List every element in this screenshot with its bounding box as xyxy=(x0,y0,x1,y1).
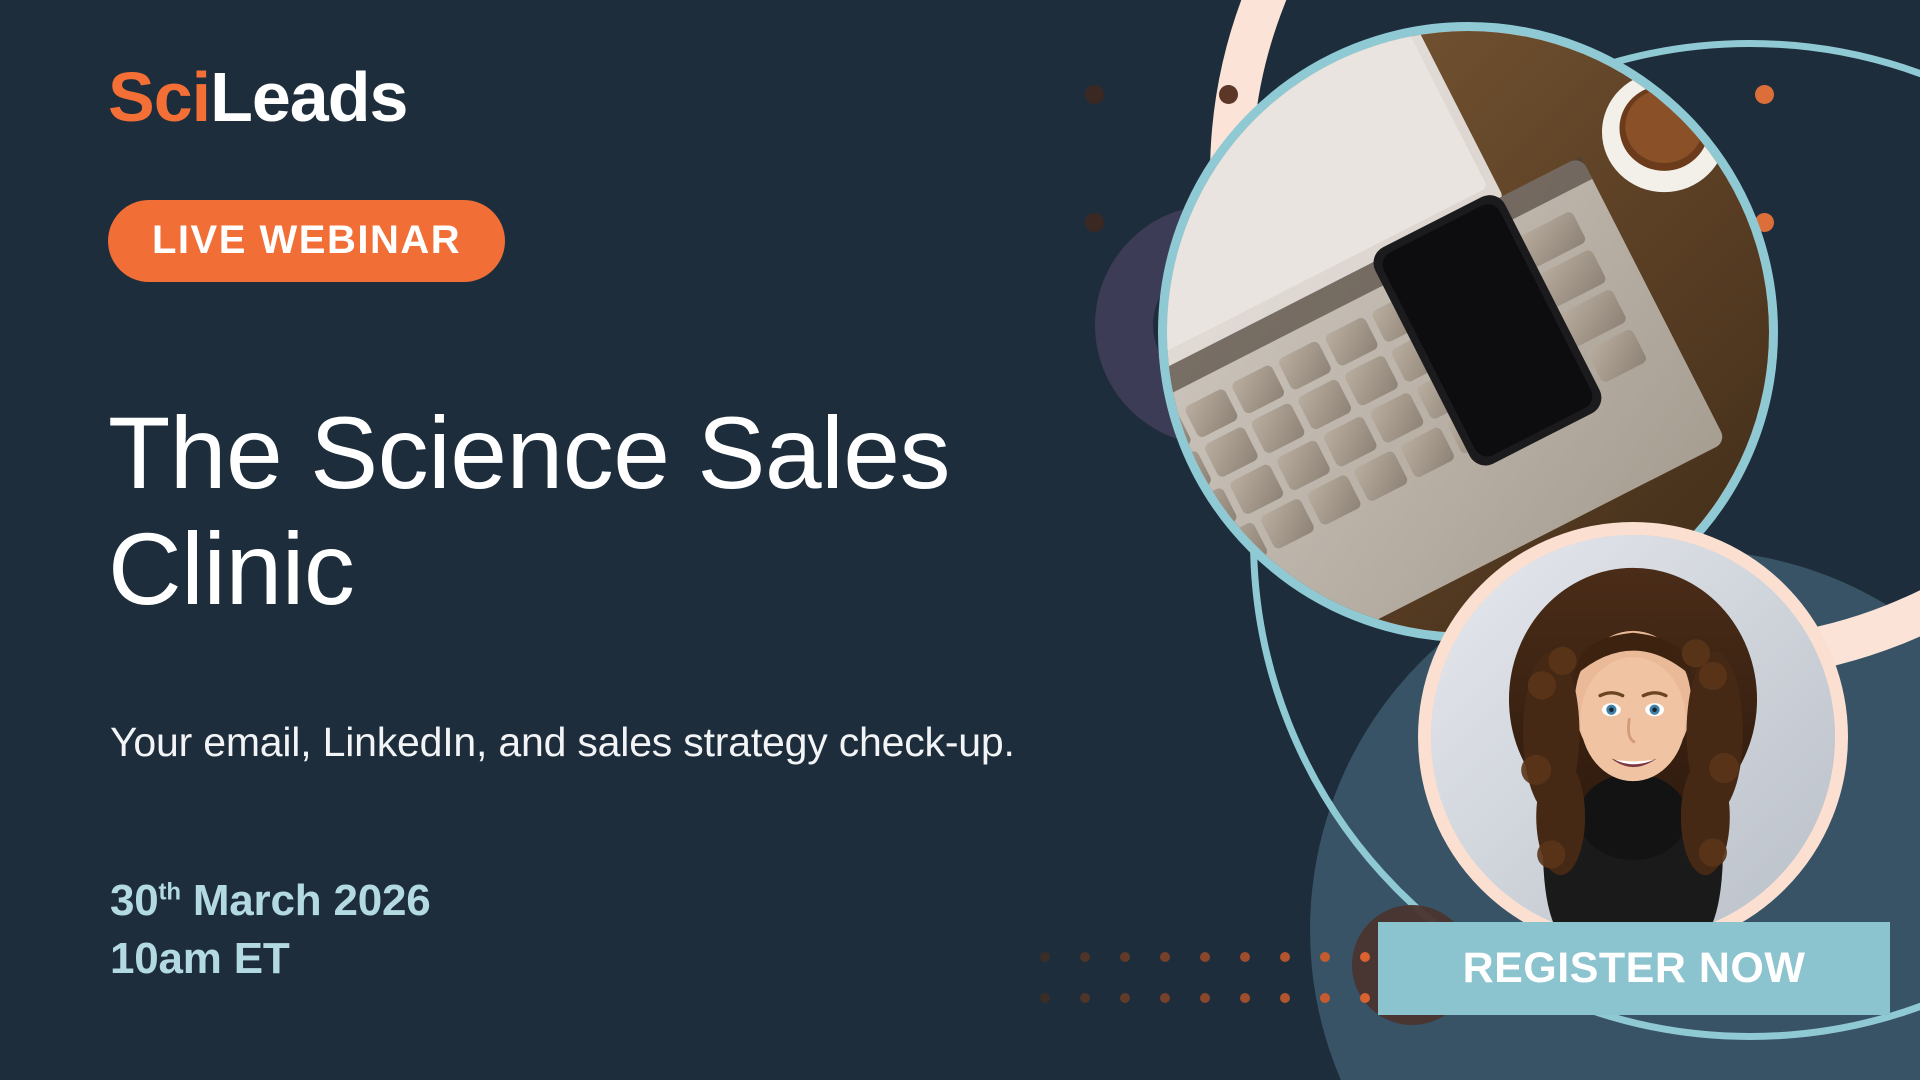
presenter-photo-circle xyxy=(1418,522,1848,952)
decorative-dot xyxy=(1320,952,1330,962)
decorative-dot xyxy=(1200,952,1210,962)
headline-line-2: Clinic xyxy=(108,511,1088,627)
decorative-dot xyxy=(1360,952,1370,962)
event-month-year: March 2026 xyxy=(181,876,431,925)
decorative-dot xyxy=(1240,952,1250,962)
event-time: 10am ET xyxy=(110,930,431,988)
logo-text-sci: Sci xyxy=(108,58,210,136)
event-day-ordinal: th xyxy=(159,878,181,905)
headline-line-1: The Science Sales xyxy=(108,395,1088,511)
decorative-dot xyxy=(1360,993,1370,1003)
page-title: The Science Sales Clinic xyxy=(108,395,1088,628)
event-date: 30th March 2026 xyxy=(110,872,431,930)
event-datetime: 30th March 2026 10am ET xyxy=(110,872,431,988)
presenter-headshot-illustration xyxy=(1431,535,1835,939)
decorative-dot xyxy=(1320,993,1330,1003)
register-now-button[interactable]: REGISTER NOW xyxy=(1378,922,1890,1015)
decorative-dot xyxy=(1120,952,1130,962)
decorative-dot xyxy=(1280,952,1290,962)
logo-text-leads: Leads xyxy=(210,58,407,136)
decorative-dot xyxy=(1200,993,1210,1003)
decorative-dot xyxy=(1160,993,1170,1003)
decorative-dot xyxy=(1160,952,1170,962)
scileads-logo: SciLeads xyxy=(108,62,407,132)
decorative-dot xyxy=(1120,993,1130,1003)
event-day: 30 xyxy=(110,876,159,925)
subtitle: Your email, LinkedIn, and sales strategy… xyxy=(110,718,1015,767)
decorative-dot xyxy=(1280,993,1290,1003)
webinar-promo-banner: SciLeads LIVE WEBINAR The Science Sales … xyxy=(0,0,1920,1080)
content-column: SciLeads LIVE WEBINAR The Science Sales … xyxy=(108,0,1108,1080)
decorative-dot xyxy=(1240,993,1250,1003)
live-webinar-badge: LIVE WEBINAR xyxy=(108,200,505,282)
